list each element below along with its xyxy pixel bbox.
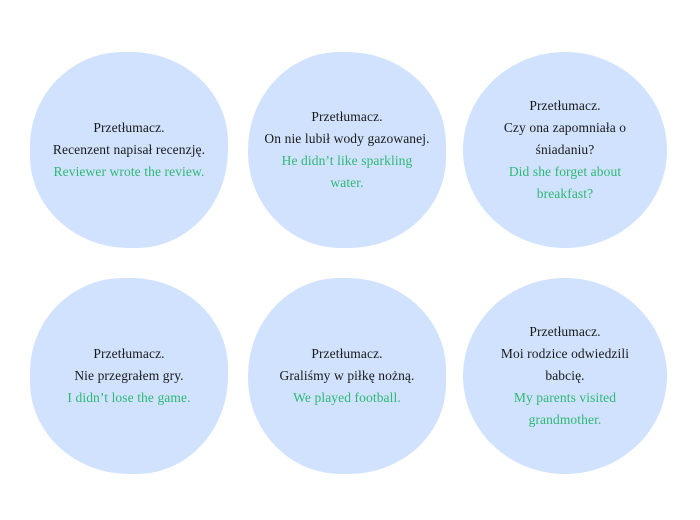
card-translation-line: He didn’t like sparkling [248,150,446,172]
card-translation-line: We played football. [248,387,446,409]
card-translation-line: Did she forget about [463,161,667,183]
card-source-line: Czy ona zapomniała o [463,117,667,139]
translation-card-4[interactable]: Przetłumacz. Nie przegrałem gry. I didn’… [30,278,228,474]
translation-card-1[interactable]: Przetłumacz. Recenzent napisał recenzję.… [30,52,228,248]
card-source-line: śniadaniu? [463,139,667,161]
card-translation-line: water. [248,172,446,194]
translation-card-6[interactable]: Przetłumacz. Moi rodzice odwiedzili babc… [463,278,667,474]
card-text-block: Przetłumacz. Nie przegrałem gry. I didn’… [30,343,228,409]
card-instruction: Przetłumacz. [463,95,667,117]
card-text-block: Przetłumacz. Moi rodzice odwiedzili babc… [463,321,667,431]
card-instruction: Przetłumacz. [30,117,228,139]
card-translation-line: My parents visited [463,387,667,409]
translation-card-5[interactable]: Przetłumacz. Graliśmy w piłkę nożną. We … [248,278,446,474]
card-source-line: Nie przegrałem gry. [30,365,228,387]
card-source-line: Graliśmy w piłkę nożną. [248,365,446,387]
card-source-line: Recenzent napisał recenzję. [30,139,228,161]
card-translation-line: Reviewer wrote the review. [30,161,228,183]
card-translation-line: grandmother. [463,409,667,431]
card-source-line: Moi rodzice odwiedzili [463,343,667,365]
card-text-block: Przetłumacz. Recenzent napisał recenzję.… [30,117,228,183]
translation-card-2[interactable]: Przetłumacz. On nie lubił wody gazowanej… [248,52,446,248]
translation-card-3[interactable]: Przetłumacz. Czy ona zapomniała o śniada… [463,52,667,248]
card-instruction: Przetłumacz. [248,343,446,365]
card-translation-line: breakfast? [463,183,667,205]
card-text-block: Przetłumacz. Graliśmy w piłkę nożną. We … [248,343,446,409]
card-source-line: On nie lubił wody gazowanej. [248,128,446,150]
flashcard-board: Przetłumacz. Recenzent napisał recenzję.… [0,0,700,520]
card-text-block: Przetłumacz. Czy ona zapomniała o śniada… [463,95,667,205]
card-translation-line: I didn’t lose the game. [30,387,228,409]
card-instruction: Przetłumacz. [248,106,446,128]
card-instruction: Przetłumacz. [30,343,228,365]
card-source-line: babcię. [463,365,667,387]
card-instruction: Przetłumacz. [463,321,667,343]
card-text-block: Przetłumacz. On nie lubił wody gazowanej… [248,106,446,194]
